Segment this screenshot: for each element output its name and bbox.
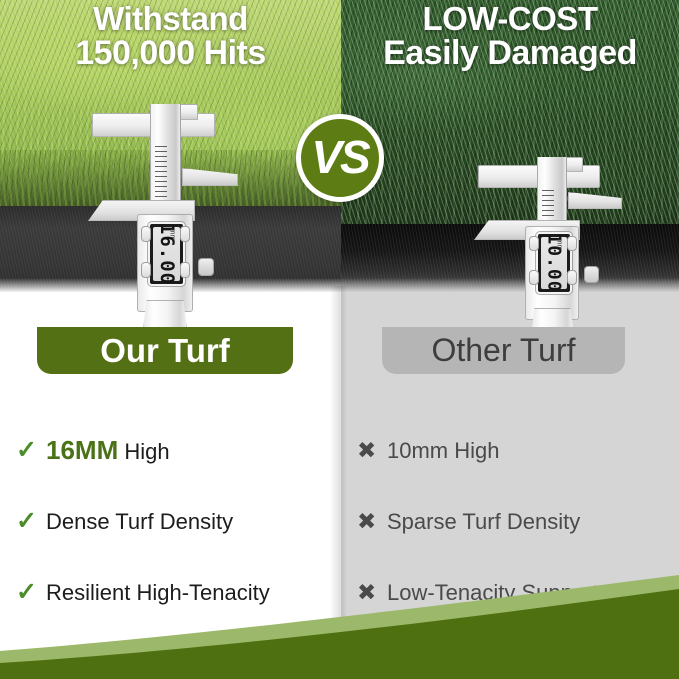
feature-label-rest: High bbox=[118, 439, 169, 464]
caliper-left-thumbwheel bbox=[198, 258, 214, 276]
caliper-left-button-d bbox=[180, 262, 190, 278]
feature-label: Resilient High-Tenacity bbox=[46, 580, 270, 606]
caliper-left-button-b bbox=[141, 262, 151, 278]
caliper-left-button-a bbox=[141, 226, 151, 242]
caliper-right-display-inner: 10.00 mm bbox=[541, 237, 567, 289]
x-icon: ✖ bbox=[357, 510, 387, 533]
vs-badge: VS bbox=[296, 114, 384, 202]
feature-list-other-turf: ✖ 10mm High ✖ Sparse Turf Density ✖ Low-… bbox=[357, 415, 675, 628]
caliper-left-button-c bbox=[180, 226, 190, 242]
headline-left: Withstand 150,000 Hits bbox=[0, 2, 341, 70]
caliper-right-button-b bbox=[529, 270, 539, 285]
banner-our-turf-label: Our Turf bbox=[100, 332, 230, 370]
feature-list-our-turf: ✓ 16MM High ✓ Dense Turf Density ✓ Resil… bbox=[16, 415, 334, 628]
feature-item: ✓ 16MM High bbox=[16, 415, 334, 486]
vs-label: VS bbox=[311, 134, 368, 180]
banner-other-turf: Other Turf bbox=[382, 327, 625, 374]
feature-highlight: 16MM bbox=[46, 435, 118, 465]
x-icon: ✖ bbox=[357, 581, 387, 604]
caliper-left-unit: mm bbox=[169, 229, 176, 241]
headline-left-line1: Withstand bbox=[0, 2, 341, 36]
feature-item: ✓ Dense Turf Density bbox=[16, 486, 334, 557]
caliper-left-base bbox=[143, 300, 187, 330]
headline-right-line2: Easily Damaged bbox=[341, 36, 679, 71]
feature-item: ✓ Resilient High-Tenacity bbox=[16, 557, 334, 628]
headline-left-line2: 150,000 Hits bbox=[0, 36, 341, 71]
feature-item: ✖ 10mm High bbox=[357, 415, 675, 486]
caliper-right-button-a bbox=[529, 236, 539, 251]
caliper-right-unit: mm bbox=[556, 239, 563, 251]
caliper-right-thumbwheel bbox=[584, 266, 599, 283]
headline-right: LOW-COST Easily Damaged bbox=[341, 2, 679, 70]
headline-right-line1: LOW-COST bbox=[341, 2, 679, 36]
photo-fade-right bbox=[341, 278, 679, 292]
check-icon: ✓ bbox=[16, 580, 46, 605]
feature-item: ✖ Low-Tenacity Support bbox=[357, 557, 675, 628]
banner-our-turf: Our Turf bbox=[37, 327, 293, 374]
check-icon: ✓ bbox=[16, 438, 46, 463]
feature-label: 10mm High bbox=[387, 438, 499, 464]
check-icon: ✓ bbox=[16, 509, 46, 534]
feature-label: Sparse Turf Density bbox=[387, 509, 580, 535]
caliper-right-button-c bbox=[567, 236, 577, 251]
caliper-left-scale bbox=[155, 146, 167, 208]
product-comparison-image: 16.00 mm 10.00 mm bbox=[0, 0, 679, 679]
x-icon: ✖ bbox=[357, 439, 387, 462]
feature-label: 16MM High bbox=[46, 435, 170, 466]
feature-label: Low-Tenacity Support bbox=[387, 580, 599, 606]
caliper-right-button-d bbox=[567, 270, 577, 285]
feature-item: ✖ Sparse Turf Density bbox=[357, 486, 675, 557]
banner-other-turf-label: Other Turf bbox=[431, 332, 575, 369]
caliper-left-display-inner: 16.00 mm bbox=[153, 227, 180, 281]
feature-label: Dense Turf Density bbox=[46, 509, 233, 535]
